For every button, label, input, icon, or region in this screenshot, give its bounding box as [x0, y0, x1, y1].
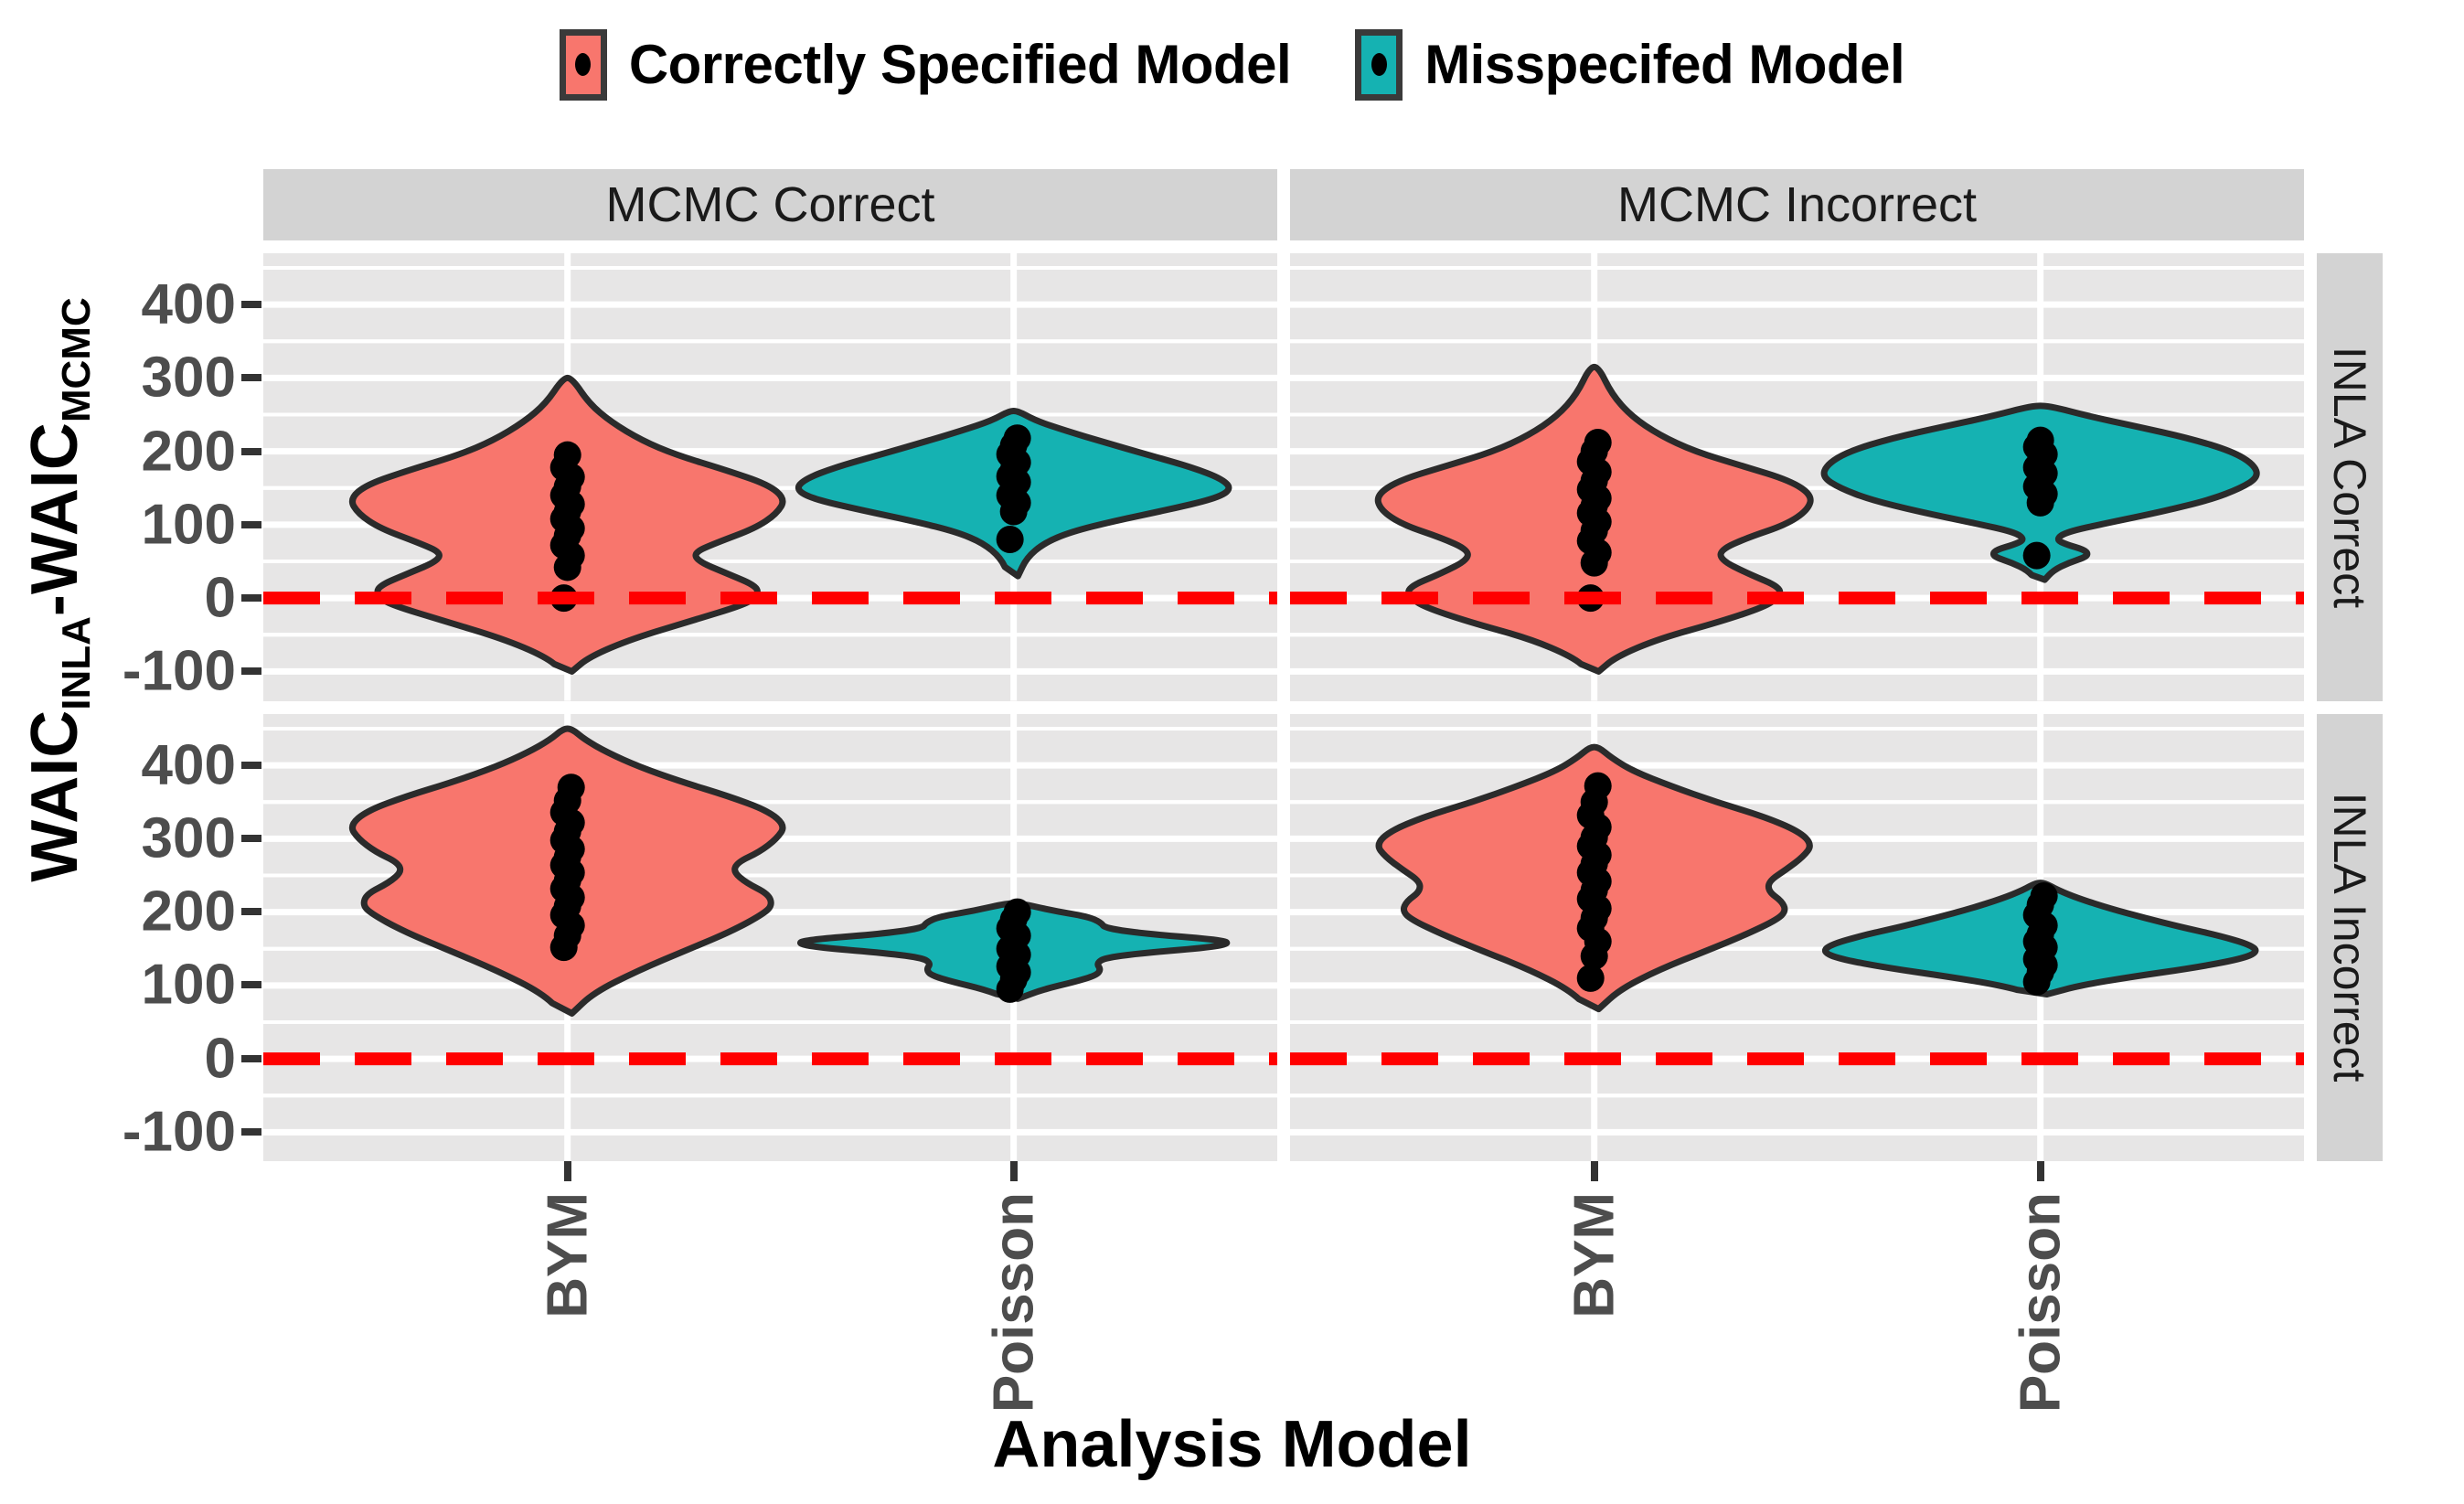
y-tick-mark — [241, 908, 261, 915]
y-tick-mark — [241, 1055, 261, 1062]
x-axis-title: Analysis Model — [0, 1399, 2464, 1490]
legend-key-dot-icon — [575, 53, 591, 76]
panel-canvas — [1290, 714, 2304, 1162]
facet-strip-row-label: INLA Correct — [2323, 347, 2376, 608]
y-tick-label: 100 — [16, 492, 236, 557]
y-tick-mark — [241, 1128, 261, 1136]
y-tick-label: 400 — [16, 272, 236, 337]
data-point — [1004, 424, 1031, 452]
x-tick-mark — [564, 1161, 571, 1181]
y-tick-mark — [241, 667, 261, 675]
data-point — [2027, 427, 2054, 454]
legend: Correctly Specified Model Misspecifed Mo… — [0, 16, 2464, 112]
facet-panel-1-1 — [1290, 714, 2304, 1162]
facet-strip-col-0: MCMC Correct — [263, 169, 1277, 240]
facet-panel-1-0 — [263, 714, 1277, 1162]
y-tick-mark — [241, 521, 261, 528]
data-point — [2031, 882, 2058, 910]
y-tick-label: 300 — [16, 346, 236, 411]
chart-root: Correctly Specified Model Misspecifed Mo… — [0, 0, 2464, 1504]
x-tick-label-poisson: Poisson — [2008, 1192, 2073, 1413]
panel-canvas — [1290, 253, 2304, 701]
panel-canvas — [263, 253, 1277, 701]
y-tick-label: 0 — [16, 566, 236, 631]
legend-key-swatch-correctly-specified — [560, 29, 607, 101]
data-point — [2023, 542, 2051, 570]
data-point — [1584, 772, 1612, 799]
legend-item-misspecified[interactable]: Misspecifed Model — [1355, 29, 1904, 101]
y-tick-label: -100 — [16, 639, 236, 704]
data-point — [554, 442, 581, 469]
legend-label-misspecified: Misspecifed Model — [1424, 37, 1904, 92]
x-tick-label-bym: BYM — [535, 1192, 600, 1318]
y-tick-mark — [241, 594, 261, 602]
facet-panel-0-0 — [263, 253, 1277, 701]
legend-label-correctly-specified: Correctly Specified Model — [629, 37, 1291, 92]
y-tick-mark — [241, 448, 261, 455]
facet-strip-row-1: INLA Incorrect — [2317, 714, 2383, 1162]
y-tick-label: 200 — [16, 880, 236, 944]
y-tick-mark — [241, 981, 261, 988]
legend-key-swatch-misspecified — [1355, 29, 1403, 101]
facet-strip-col-1: MCMC Incorrect — [1290, 169, 2304, 240]
data-point — [558, 773, 585, 801]
y-tick-mark — [241, 301, 261, 308]
data-point — [997, 526, 1024, 553]
panel-canvas — [263, 714, 1277, 1162]
y-tick-label: 400 — [16, 732, 236, 797]
x-tick-mark — [2037, 1161, 2044, 1181]
facet-panel-0-1 — [1290, 253, 2304, 701]
y-tick-mark — [241, 762, 261, 769]
y-tick-label: -100 — [16, 1099, 236, 1164]
y-tick-label: 100 — [16, 953, 236, 1018]
x-tick-mark — [1010, 1161, 1018, 1181]
data-point — [1584, 429, 1612, 456]
x-tick-label-poisson: Poisson — [981, 1192, 1046, 1413]
legend-key-dot-icon — [1371, 53, 1387, 76]
facet-strip-row-0: INLA Correct — [2317, 253, 2383, 701]
x-tick-label-bym: BYM — [1562, 1192, 1627, 1318]
y-tick-mark — [241, 835, 261, 842]
legend-item-correctly-specified[interactable]: Correctly Specified Model — [560, 29, 1291, 101]
y-tick-label: 200 — [16, 419, 236, 484]
data-point — [1004, 898, 1031, 925]
x-tick-mark — [1591, 1161, 1598, 1181]
y-tick-label: 0 — [16, 1026, 236, 1091]
y-tick-mark — [241, 374, 261, 381]
y-tick-label: 300 — [16, 805, 236, 870]
facet-strip-row-label: INLA Incorrect — [2323, 793, 2376, 1083]
plot-area: MCMC CorrectMCMC IncorrectINLA CorrectIN… — [263, 169, 2383, 1161]
